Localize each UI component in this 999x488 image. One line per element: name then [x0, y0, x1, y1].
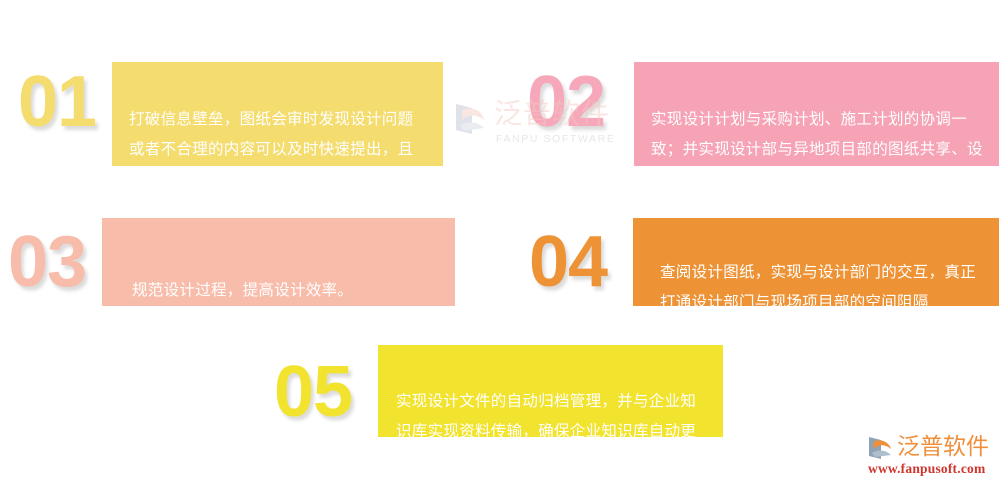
step-panel-01: 打破信息壁垒，图纸会审时发现设计问题或者不合理的内容可以及时快速提出，且进行设计… [112, 62, 443, 166]
step-panel-02: 实现设计计划与采购计划、施工计划的协调一致；并实现设计部与异地项目部的图纸共享、… [634, 62, 999, 166]
brand-logo: 泛普软件 www.fanpusoft.com [866, 432, 994, 480]
step-panel-01-text: 打破信息壁垒，图纸会审时发现设计问题或者不合理的内容可以及时快速提出，且进行设计… [129, 105, 427, 195]
step-number-02: 02 [527, 66, 605, 138]
step-number-03: 03 [8, 226, 86, 298]
step-number-01: 01 [18, 66, 96, 138]
brand-url: www.fanpusoft.com [868, 461, 985, 477]
step-panel-04-text: 查阅设计图纸，实现与设计部门的交互，真正打通设计部门与现场项目部的空间阻隔 [660, 258, 983, 318]
step-panel-05-text: 实现设计文件的自动归档管理，并与企业知识库实现资料传输，确保企业知识库自动更新 [396, 387, 707, 477]
step-panel-05: 实现设计文件的自动归档管理，并与企业知识库实现资料传输，确保企业知识库自动更新 [378, 345, 723, 437]
infographic-canvas: 01 打破信息壁垒，图纸会审时发现设计问题或者不合理的内容可以及时快速提出，且进… [0, 0, 999, 488]
step-number-05: 05 [274, 356, 352, 428]
fanpu-logo-icon [452, 100, 492, 136]
step-panel-02-text: 实现设计计划与采购计划、施工计划的协调一致；并实现设计部与异地项目部的图纸共享、… [651, 105, 983, 195]
fanpu-brand-icon [866, 434, 896, 461]
step-number-04: 04 [529, 226, 607, 298]
step-panel-03-text: 规范设计过程，提高设计效率。 [132, 276, 439, 306]
step-panel-03: 规范设计过程，提高设计效率。 [102, 218, 455, 306]
brand-name-cn: 泛普软件 [897, 431, 989, 461]
step-panel-04: 查阅设计图纸，实现与设计部门的交互，真正打通设计部门与现场项目部的空间阻隔 [633, 218, 999, 306]
